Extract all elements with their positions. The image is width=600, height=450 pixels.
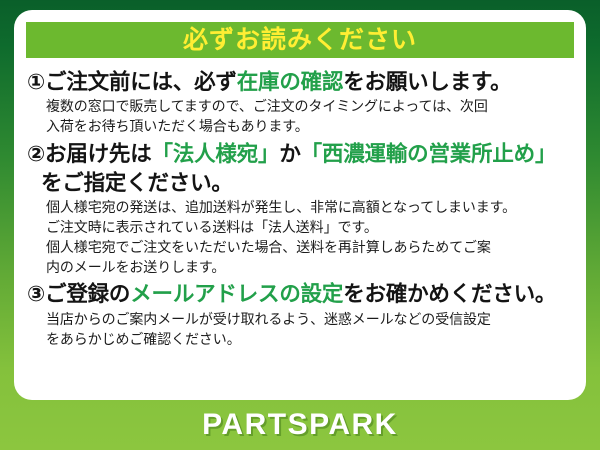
notice-panel: 必ずお読みください ①ご注文前には、必ず在庫の確認をお願いします。 複数の窓口で… [14,10,586,400]
notice-item-3-sub-line-1: 当店からのご案内メールが受け取れるよう、迷惑メールなどの受信設定 [46,310,575,330]
notice-item-2-number: ② [27,142,45,166]
notice-item-3-description: 当店からのご案内メールが受け取れるよう、迷惑メールなどの受信設定 をあらかじめご… [27,310,575,350]
notice-item-3-number: ③ [27,282,45,306]
notice-item-2-description: 個人様宅宛の発送は、追加送料が発生し、非常に高額となってしまいます。 ご注文時に… [27,198,575,278]
notice-item-1-sub-line-2: 入荷をお待ち頂いただく場合もあります。 [46,117,575,137]
notice-item-3-highlight: メールアドレスの設定 [130,282,343,306]
notice-item-2-heading-line2: をご指定ください。 [27,169,575,197]
notice-items-list: ①ご注文前には、必ず在庫の確認をお願いします。 複数の窓口で販売してますので、ご… [27,68,575,353]
notice-item-1-heading: ①ご注文前には、必ず在庫の確認をお願いします。 [27,68,575,96]
footer-brand-bar: PARTSPARK [0,400,600,450]
notice-item-1: ①ご注文前には、必ず在庫の確認をお願いします。 複数の窓口で販売してますので、ご… [27,68,575,137]
notice-item-2-heading: ②お届け先は「法人様宛」か「西濃運輸の営業所止め」 [27,140,575,168]
brand-logo-text: PARTSPARK [202,408,398,442]
notice-item-1-number: ① [27,70,45,94]
notice-item-2-head-part-3: か [279,142,300,166]
notice-item-2-highlight-1: 「法人様宛」 [152,142,280,166]
notice-title: 必ずお読みください [183,28,417,53]
notice-item-2-sub-line-3: 個人様宅宛でご注文をいただいた場合、送料を再計算しあらためてご案 [46,238,575,258]
notice-title-bar: 必ずお読みください [26,22,574,58]
notice-item-1-description: 複数の窓口で販売してますので、ご注文のタイミングによっては、次回 入荷をお待ち頂… [27,97,575,137]
notice-banner: 必ずお読みください ①ご注文前には、必ず在庫の確認をお願いします。 複数の窓口で… [0,0,600,450]
notice-item-2-sub-line-2: ご注文時に表示されている送料は「法人送料」です。 [46,218,575,238]
notice-item-3-sub-line-2: をあらかじめご確認ください。 [46,330,575,350]
notice-item-3-head-part-1: ご登録の [45,282,130,306]
notice-item-2-sub-line-1: 個人様宅宛の発送は、追加送料が発生し、非常に高額となってしまいます。 [46,198,575,218]
notice-item-1-sub-line-1: 複数の窓口で販売してますので、ご注文のタイミングによっては、次回 [46,97,575,117]
notice-item-1-head-part-1: ご注文前には、必ず [45,70,237,94]
notice-item-2: ②お届け先は「法人様宛」か「西濃運輸の営業所止め」 をご指定ください。 個人様宅… [27,140,575,277]
notice-item-2-sub-line-4: 内のメールをお送りします。 [46,258,575,278]
notice-item-3-head-part-3: をお確かめください。 [343,282,556,306]
notice-item-1-head-part-3: をお願いします。 [343,70,511,94]
notice-item-1-highlight: 在庫の確認 [237,70,344,94]
notice-item-2-head-part-1: お届け先は [45,142,152,166]
notice-item-3: ③ご登録のメールアドレスの設定をお確かめください。 当店からのご案内メールが受け… [27,280,575,349]
notice-item-3-heading: ③ご登録のメールアドレスの設定をお確かめください。 [27,280,575,308]
notice-item-2-highlight-2: 「西濃運輸の営業所止め」 [301,142,557,166]
